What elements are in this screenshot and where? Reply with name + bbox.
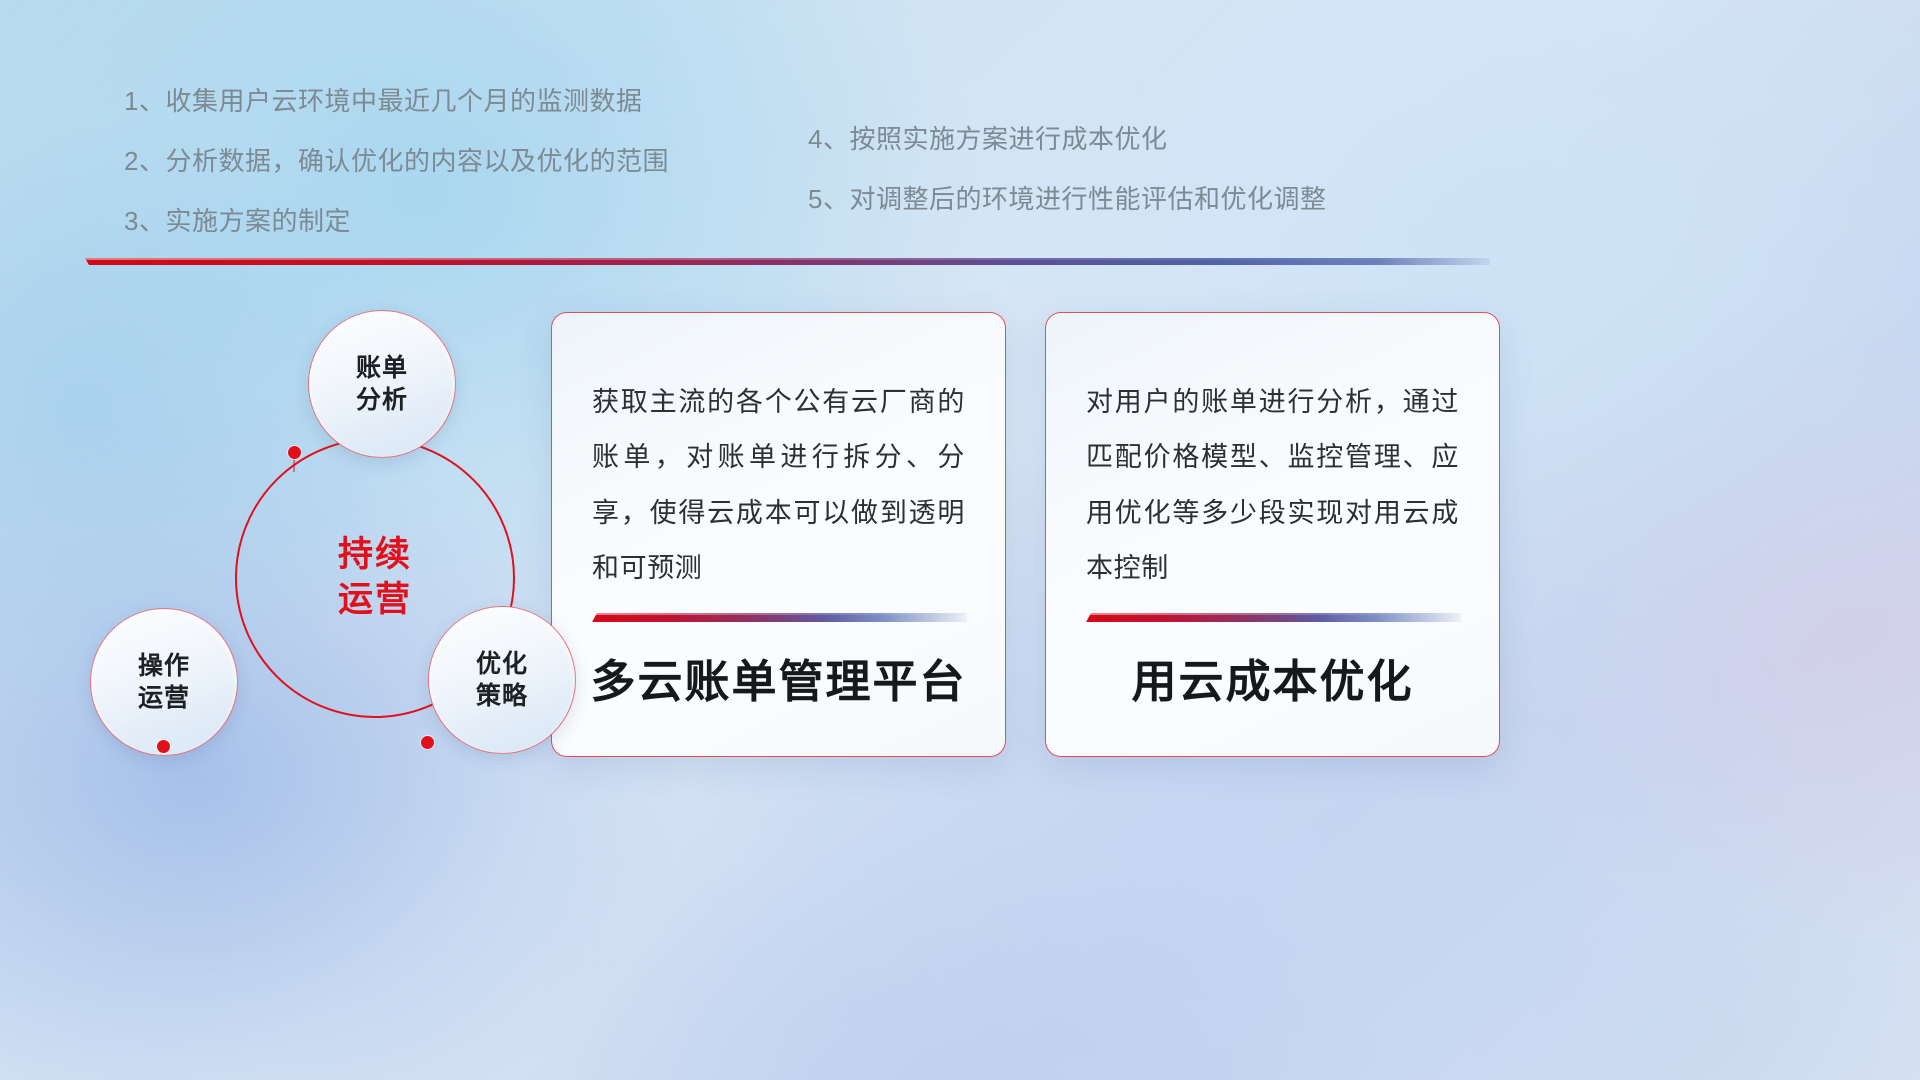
- bubble-label-line-2: 运营: [138, 682, 190, 715]
- section-divider: [85, 258, 1490, 265]
- bubble-label-line-1: 账单: [356, 352, 408, 385]
- step-item-3: 3、实施方案的制定: [124, 208, 669, 234]
- card-cloud-cost-optimization[interactable]: 对用户的账单进行分析，通过匹配价格模型、监控管理、应用优化等多少段实现对用云成本…: [1045, 312, 1500, 757]
- node-dot-right: [421, 736, 434, 749]
- bubble-bill-analysis[interactable]: 账单 分析: [308, 310, 456, 458]
- card-accent-rule: [1086, 613, 1461, 622]
- center-label-line-1: 持续: [338, 533, 412, 578]
- step-item-1: 1、收集用户云环境中最近几个月的监测数据: [124, 88, 669, 114]
- bubble-label-line-1: 操作: [138, 650, 190, 683]
- card-multicloud-billing-platform[interactable]: 获取主流的各个公有云厂商的账单，对账单进行拆分、分享，使得云成本可以做到透明和可…: [551, 312, 1006, 757]
- steps-column-right: 4、按照实施方案进行成本优化 5、对调整后的环境进行性能评估和优化调整: [808, 126, 1326, 246]
- card-title: 多云账单管理平台: [552, 645, 1005, 710]
- center-label-text: 持续 运营: [338, 533, 412, 623]
- bubble-label-line-2: 分析: [356, 384, 408, 417]
- card-title: 用云成本优化: [1046, 645, 1499, 710]
- card-body-text: 获取主流的各个公有云厂商的账单，对账单进行拆分、分享，使得云成本可以做到透明和可…: [592, 375, 965, 596]
- steps-section: 1、收集用户云环境中最近几个月的监测数据 2、分析数据，确认优化的内容以及优化的…: [0, 88, 1920, 258]
- card-body-text: 对用户的账单进行分析，通过匹配价格模型、监控管理、应用优化等多少段实现对用云成本…: [1086, 375, 1459, 596]
- step-item-4: 4、按照实施方案进行成本优化: [808, 126, 1326, 152]
- step-item-2: 2、分析数据，确认优化的内容以及优化的范围: [124, 148, 669, 174]
- bubble-bill-analysis-label: 账单 分析: [356, 352, 408, 417]
- node-dot-left: [157, 740, 170, 753]
- center-label: 持续 运营: [235, 438, 515, 718]
- center-label-line-2: 运营: [338, 578, 412, 623]
- node-dot-top: [288, 446, 301, 459]
- card-accent-rule: [592, 613, 967, 622]
- steps-column-left: 1、收集用户云环境中最近几个月的监测数据 2、分析数据，确认优化的内容以及优化的…: [124, 88, 669, 268]
- continuous-operation-diagram: 账单 分析 操作 运营 优化 策略 持续 运营: [80, 288, 550, 768]
- bubble-operation[interactable]: 操作 运营: [90, 608, 238, 756]
- step-item-5: 5、对调整后的环境进行性能评估和优化调整: [808, 186, 1326, 212]
- bubble-operation-label: 操作 运营: [138, 650, 190, 715]
